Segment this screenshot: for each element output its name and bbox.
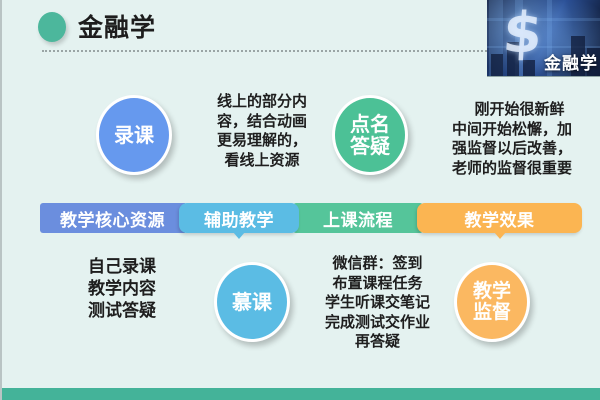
circle-supervision-label: 教学 监督 <box>473 281 511 324</box>
title-bullet-icon <box>38 12 66 42</box>
bar-segment-pointer-icon <box>233 232 245 239</box>
text-block-bottom-middle: 微信群：签到 布置课程任务 学生听课交笔记 完成测试交作业 再答疑 <box>300 254 455 352</box>
text-line: 中间开始松懈，加 <box>427 120 597 140</box>
text-line: 自己录课 <box>52 256 192 278</box>
bar-segment-class-flow[interactable]: 上课流程 <box>293 203 423 233</box>
bar-segment-label: 教学核心资源 <box>60 206 165 231</box>
circle-supervision-line1: 教学 <box>473 280 511 302</box>
text-line: 线上的部分内 <box>192 92 332 112</box>
text-line: 学生听课交笔记 <box>300 293 455 313</box>
text-block-top-left: 线上的部分内 容，结合动画 更易理解的， 看线上资源 <box>192 92 332 170</box>
circle-rollcall-line1: 点名 <box>350 112 390 136</box>
circle-record-label: 录课 <box>114 124 154 146</box>
text-block-bottom-left: 自己录课 教学内容 测试答疑 <box>52 256 192 322</box>
text-line: 布置课程任务 <box>300 274 455 294</box>
text-line: 微信群：签到 <box>300 254 455 274</box>
hero-caption: 金融学 <box>544 49 598 74</box>
bar-segment-assisted-teaching[interactable]: 辅助教学 <box>179 203 299 233</box>
circle-supervision-line2: 监督 <box>473 301 511 323</box>
text-line: 教学内容 <box>52 278 192 300</box>
text-line: 强监督以后改善， <box>427 139 597 159</box>
finance-hero-image: $ 金融学 <box>487 0 600 77</box>
bar-segment-label: 教学效果 <box>465 206 535 231</box>
category-bar: 教学核心资源 辅助教学 上课流程 教学效果 <box>40 203 587 233</box>
bar-segment-teaching-effect[interactable]: 教学效果 <box>417 203 582 233</box>
bar-segment-label: 上课流程 <box>323 206 393 231</box>
circle-mooc[interactable]: 慕课 <box>214 262 290 342</box>
text-line: 老师的监督很重要 <box>427 159 597 179</box>
dollar-sign-icon: $ <box>501 6 544 62</box>
text-line: 更易理解的， <box>192 131 332 151</box>
text-line: 再答疑 <box>300 332 455 352</box>
page-title-text: 金融学 <box>78 15 156 40</box>
slide-canvas: 金融学 $ 金融学 录课 线上的部分内 容，结合动画 更易理解的， 看线上资源 … <box>0 0 600 400</box>
text-line: 完成测试交作业 <box>300 313 455 333</box>
bar-segment-pointer-icon <box>494 232 506 239</box>
circle-rollcall-line2: 答疑 <box>350 134 390 158</box>
text-line: 看线上资源 <box>192 151 332 171</box>
bar-segment-label: 辅助教学 <box>204 206 274 231</box>
page-title: 金融学 <box>38 12 156 42</box>
circle-rollcall[interactable]: 点名 答疑 <box>332 95 408 175</box>
text-line: 测试答疑 <box>52 300 192 322</box>
circle-rollcall-label: 点名 答疑 <box>350 113 390 158</box>
text-line: 容，结合动画 <box>192 112 332 132</box>
circle-supervision[interactable]: 教学 监督 <box>454 262 530 342</box>
footer-strip <box>2 388 600 400</box>
circle-mooc-label: 慕课 <box>232 291 272 313</box>
text-line: 刚开始很新鲜 <box>427 100 597 120</box>
text-block-top-right: 刚开始很新鲜 中间开始松懈，加 强监督以后改善， 老师的监督很重要 <box>427 100 597 178</box>
bar-segment-core-resources[interactable]: 教学核心资源 <box>40 203 185 233</box>
circle-record[interactable]: 录课 <box>96 95 172 175</box>
